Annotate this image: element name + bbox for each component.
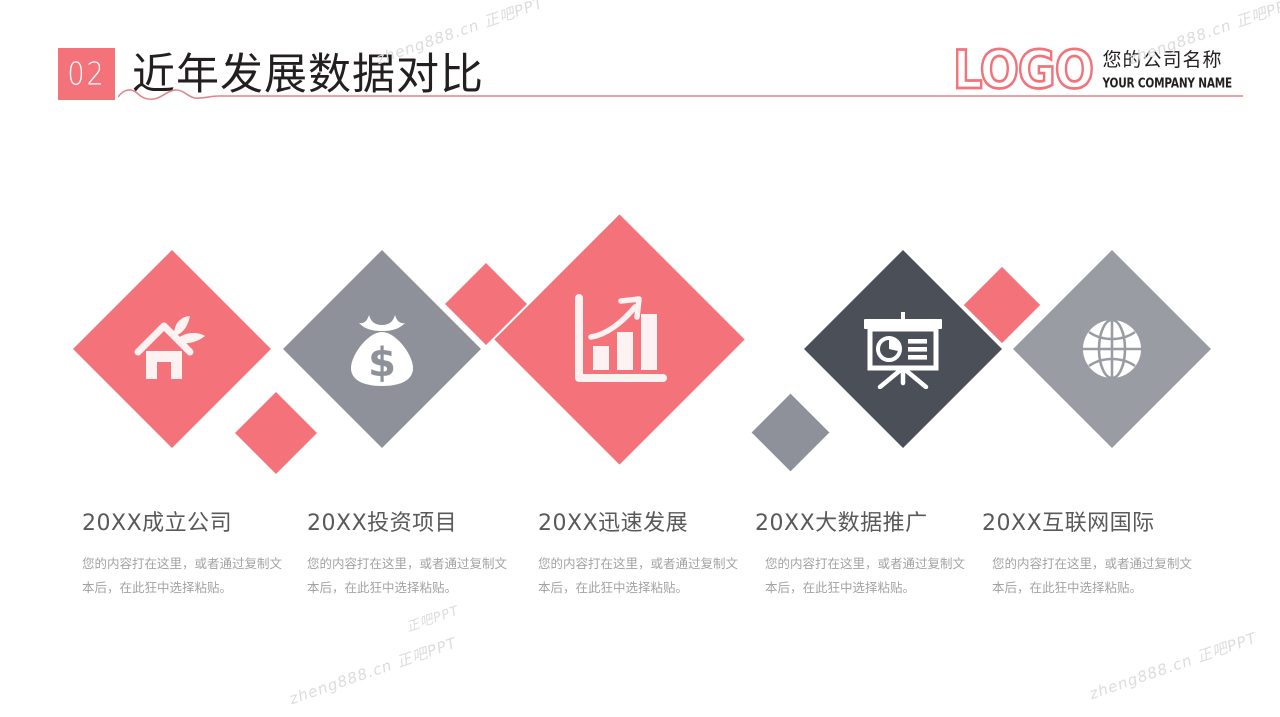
milestone-body: 您的内容打在这里，或者通过复制文本后，在此狂中选择粘贴。: [538, 552, 738, 601]
slide-header: 02 近年发展数据对比 LOGO 您的公司名称 YOUR COMPANY NAM…: [0, 0, 1280, 120]
money-bag-icon: $: [312, 279, 452, 419]
company-name-cn: 您的公司名称: [1102, 45, 1232, 72]
milestone-body: 您的内容打在这里，或者通过复制文本后，在此狂中选择粘贴。: [82, 552, 282, 601]
milestone-title: 20XX投资项目: [307, 505, 507, 537]
growth-chart-icon: [531, 251, 708, 428]
milestone-title: 20XX成立公司: [82, 505, 282, 537]
milestone-body: 您的内容打在这里，或者通过复制文本后，在此狂中选择粘贴。: [765, 552, 965, 601]
section-number-badge: 02: [58, 48, 115, 100]
milestone-caption-1: 20XX成立公司 您的内容打在这里，或者通过复制文本后，在此狂中选择粘贴。: [82, 505, 282, 601]
milestone-title: 20XX互联网国际: [982, 505, 1192, 537]
presentation-board-icon: [833, 279, 973, 419]
milestone-diamond-row: $: [0, 160, 1280, 540]
accent-diamond-1: [235, 392, 317, 474]
milestone-caption-2: 20XX投资项目 您的内容打在这里，或者通过复制文本后，在此狂中选择粘贴。: [307, 505, 507, 601]
house-leaf-icon: [102, 279, 242, 419]
section-number-label: 02: [67, 56, 105, 92]
milestone-title: 20XX迅速发展: [538, 505, 738, 537]
logo-wordmark: LOGO: [953, 44, 1093, 97]
milestone-body: 您的内容打在这里，或者通过复制文本后，在此狂中选择粘贴。: [307, 552, 507, 601]
milestone-caption-3: 20XX迅速发展 您的内容打在这里，或者通过复制文本后，在此狂中选择粘贴。: [538, 505, 738, 601]
milestone-caption-5: 20XX互联网国际 您的内容打在这里，或者通过复制文本后，在此狂中选择粘贴。: [982, 505, 1192, 601]
globe-icon: [1042, 279, 1182, 419]
milestone-diamond-1[interactable]: [73, 250, 271, 448]
company-name-group: 您的公司名称 YOUR COMPANY NAME: [1102, 42, 1232, 88]
milestone-diamond-4[interactable]: [804, 250, 1002, 448]
company-name-en: YOUR COMPANY NAME: [1102, 76, 1232, 91]
svg-text:$: $: [368, 340, 396, 386]
milestone-caption-row: 20XX成立公司 您的内容打在这里，或者通过复制文本后，在此狂中选择粘贴。 20…: [0, 505, 1280, 655]
milestone-caption-4: 20XX大数据推广 您的内容打在这里，或者通过复制文本后，在此狂中选择粘贴。: [755, 505, 965, 601]
milestone-body: 您的内容打在这里，或者通过复制文本后，在此狂中选择粘贴。: [992, 552, 1192, 601]
milestone-title: 20XX大数据推广: [755, 505, 965, 537]
logo-block: LOGO 您的公司名称 YOUR COMPANY NAME: [953, 42, 1232, 88]
accent-diamond-3: [752, 394, 830, 472]
milestone-diamond-2[interactable]: $: [283, 250, 481, 448]
milestone-diamond-3[interactable]: [494, 214, 744, 464]
milestone-diamond-5[interactable]: [1013, 250, 1211, 448]
